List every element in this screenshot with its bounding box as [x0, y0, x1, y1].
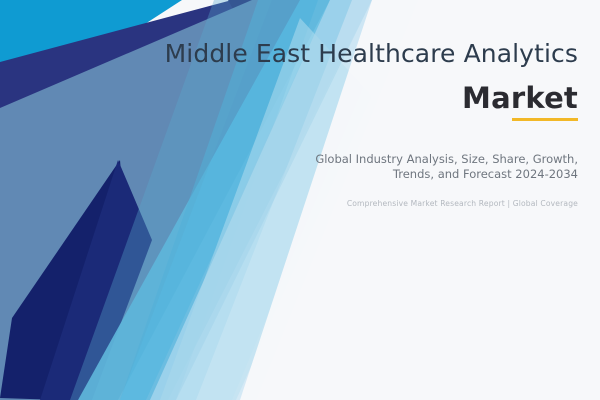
cover-caption: Comprehensive Market Research Report | G…: [248, 198, 578, 209]
report-cover: Middle East Healthcare Analytics Market …: [0, 0, 600, 400]
title-block: Middle East Healthcare Analytics Market: [158, 38, 578, 121]
title-emphasis-word: Market: [158, 81, 578, 115]
subtitle-block: Global Industry Analysis, Size, Share, G…: [278, 152, 578, 182]
cover-text-layer: Middle East Healthcare Analytics Market …: [0, 0, 600, 400]
subtitle-line-2: Trends, and Forecast 2024-2034: [278, 167, 578, 182]
subtitle-line-1: Global Industry Analysis, Size, Share, G…: [278, 152, 578, 167]
accent-underline: [512, 118, 578, 121]
page-title: Middle East Healthcare Analytics: [158, 38, 578, 69]
